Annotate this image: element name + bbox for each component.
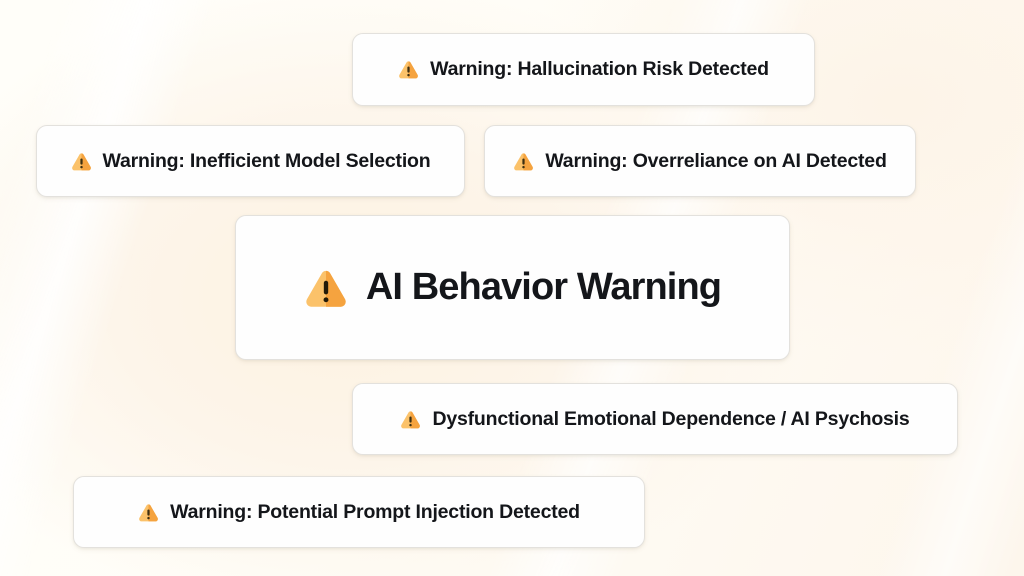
warning-label: Warning: Hallucination Risk Detected [430, 58, 769, 81]
warning-triangle-icon [398, 60, 419, 79]
card-content: Dysfunctional Emotional Dependence / AI … [400, 408, 909, 431]
card-content: AI Behavior Warning [304, 266, 721, 309]
warning-card-hallucination[interactable]: Warning: Hallucination Risk Detected [352, 33, 815, 106]
warning-triangle-icon [304, 268, 348, 308]
card-content: Warning: Potential Prompt Injection Dete… [138, 501, 580, 524]
warning-card-overreliance[interactable]: Warning: Overreliance on AI Detected [484, 125, 916, 197]
warning-card-inefficient[interactable]: Warning: Inefficient Model Selection [36, 125, 465, 197]
warning-label: Warning: Overreliance on AI Detected [545, 150, 886, 173]
card-content: Warning: Hallucination Risk Detected [398, 58, 769, 81]
warning-triangle-icon [138, 503, 159, 522]
warning-label: Warning: Inefficient Model Selection [103, 150, 431, 173]
warning-label: Dysfunctional Emotional Dependence / AI … [432, 408, 909, 431]
warning-card-prompt-injection[interactable]: Warning: Potential Prompt Injection Dete… [73, 476, 645, 548]
card-content: Warning: Inefficient Model Selection [71, 150, 431, 173]
warning-card-dependence[interactable]: Dysfunctional Emotional Dependence / AI … [352, 383, 958, 455]
warning-triangle-icon [400, 410, 421, 429]
warning-label: Warning: Potential Prompt Injection Dete… [170, 501, 580, 524]
warning-board: Warning: Hallucination Risk Detected War… [0, 0, 1024, 576]
warning-triangle-icon [513, 152, 534, 171]
warning-triangle-icon [71, 152, 92, 171]
page-title: AI Behavior Warning [366, 266, 721, 309]
card-content: Warning: Overreliance on AI Detected [513, 150, 886, 173]
main-warning-card[interactable]: AI Behavior Warning [235, 215, 790, 360]
